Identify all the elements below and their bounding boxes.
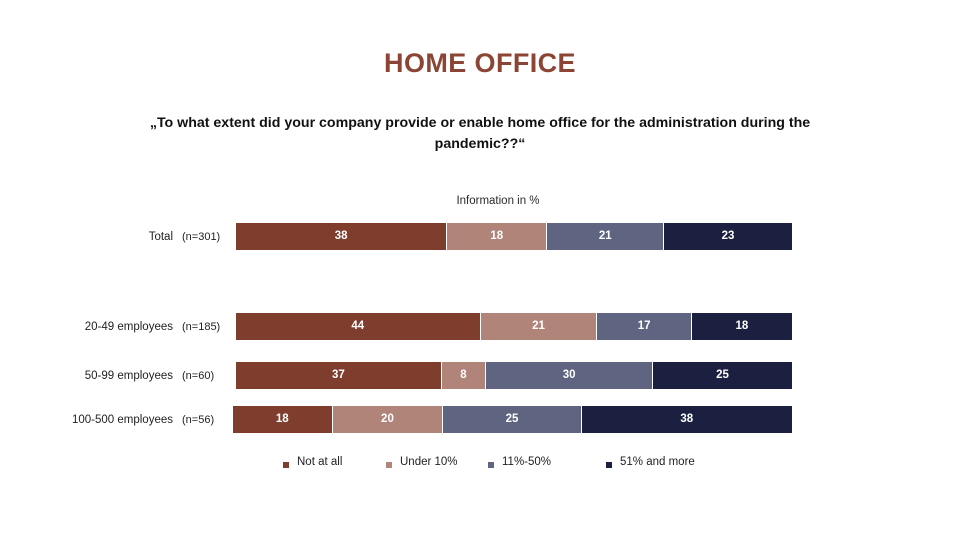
row-category-label: 20-49 employees — [85, 321, 173, 333]
legend-swatch-icon — [488, 462, 494, 468]
legend-swatch-icon — [386, 462, 392, 468]
legend-label: 51% and more — [620, 456, 695, 468]
bar-segment: 21 — [481, 313, 598, 340]
bar-row: 38182123 — [236, 223, 792, 250]
row-sample-size: (n=60) — [182, 370, 228, 382]
legend-swatch-icon — [283, 462, 289, 468]
legend-item[interactable]: 51% and more — [606, 456, 695, 468]
bar-segment: 23 — [664, 223, 792, 250]
bar-segment-value: 38 — [680, 414, 693, 426]
bar-segment: 30 — [486, 362, 653, 389]
legend-label: Not at all — [297, 456, 342, 468]
bar-segment: 18 — [233, 406, 333, 433]
legend-label: 11%-50% — [502, 456, 551, 468]
row-sample-size: (n=56) — [182, 414, 228, 426]
legend-item[interactable]: Not at all — [283, 456, 342, 468]
row-sample-size: (n=301) — [182, 231, 228, 243]
bar-segment-value: 21 — [599, 231, 612, 243]
bar-segment-value: 8 — [460, 370, 466, 382]
bar-segment: 37 — [236, 362, 442, 389]
bar-segment-value: 37 — [332, 370, 345, 382]
row-category-label: 50-99 employees — [85, 370, 173, 382]
bar-segment-value: 20 — [381, 414, 394, 426]
bar-segment: 18 — [447, 223, 547, 250]
row-category-label: 100-500 employees — [72, 414, 173, 426]
legend-swatch-icon — [606, 462, 612, 468]
row-label: 20-49 employees(n=185) — [40, 313, 228, 340]
chart-legend: Not at allUnder 10%11%-50%51% and more — [283, 456, 803, 476]
row-label: 50-99 employees(n=60) — [40, 362, 228, 389]
legend-item[interactable]: Under 10% — [386, 456, 458, 468]
bar-segment-value: 21 — [532, 321, 545, 333]
bar-segment-value: 18 — [736, 321, 749, 333]
bar-segment-value: 18 — [490, 231, 503, 243]
bar-row: 44211718 — [236, 313, 792, 340]
bar-segment-value: 44 — [351, 321, 364, 333]
bar-segment-value: 18 — [276, 414, 289, 426]
bar-segment: 44 — [236, 313, 481, 340]
bar-segment: 21 — [547, 223, 664, 250]
row-label: Total(n=301) — [40, 223, 228, 250]
bar-row: 18202538 — [233, 406, 792, 433]
bar-row: 3783025 — [236, 362, 792, 389]
bar-segment: 38 — [582, 406, 792, 433]
bar-segment: 25 — [443, 406, 581, 433]
bar-segment-value: 25 — [506, 414, 519, 426]
bar-segment-value: 23 — [722, 231, 735, 243]
bar-segment: 18 — [692, 313, 792, 340]
bar-segment: 8 — [442, 362, 486, 389]
bar-segment-value: 25 — [716, 370, 729, 382]
bar-segment: 25 — [653, 362, 792, 389]
bar-segment-value: 17 — [638, 321, 651, 333]
bar-segment: 38 — [236, 223, 447, 250]
legend-label: Under 10% — [400, 456, 458, 468]
bar-segment: 20 — [333, 406, 444, 433]
row-label: 100-500 employees(n=56) — [40, 406, 228, 433]
row-category-label: Total — [149, 231, 173, 243]
legend-item[interactable]: 11%-50% — [488, 456, 551, 468]
bar-segment-value: 30 — [563, 370, 576, 382]
bar-segment: 17 — [597, 313, 692, 340]
bar-segment-value: 38 — [335, 231, 348, 243]
row-sample-size: (n=185) — [182, 321, 228, 333]
